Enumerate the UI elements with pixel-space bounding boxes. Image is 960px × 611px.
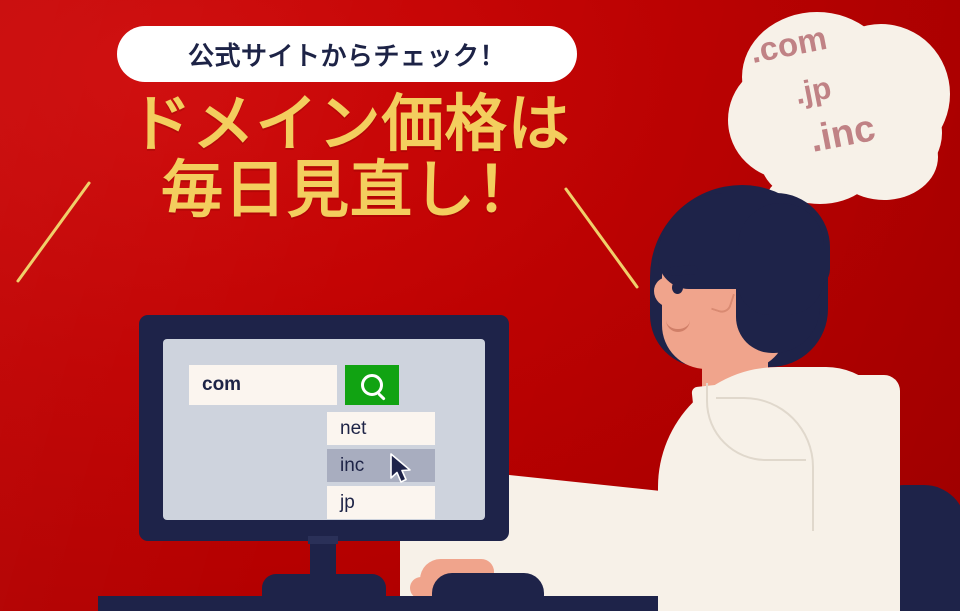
monitor-screen: onamae com net inc jp <box>163 339 485 520</box>
tld-dropdown-list[interactable]: net inc jp <box>327 412 435 523</box>
banner-pill: 公式サイトからチェック！ <box>117 26 577 82</box>
person-illustration <box>610 185 960 611</box>
search-icon <box>361 374 383 396</box>
banner-label: 公式サイトからチェック！ <box>188 36 506 73</box>
poster-canvas: 公式サイトからチェック！ ドメイン価格は 毎日見直し！ .com .jp .in… <box>0 0 960 611</box>
tld-label-jp: .jp <box>792 70 834 112</box>
tld-select[interactable]: com <box>189 365 297 405</box>
monitor-bezel: onamae com net inc jp <box>139 315 509 541</box>
dropdown-option-inc[interactable]: inc <box>327 449 435 482</box>
eye <box>672 281 683 294</box>
hair-bun <box>738 203 824 315</box>
headline-line-1: ドメイン価格は <box>90 92 610 158</box>
headline-line-2: 毎日見直し！ <box>90 158 610 224</box>
dropdown-option-net[interactable]: net <box>327 412 435 445</box>
domain-search-bar: onamae com <box>189 365 399 405</box>
monitor-logo-strip <box>308 536 338 544</box>
dropdown-option-jp[interactable]: jp <box>327 486 435 519</box>
page-title: ドメイン価格は 毎日見直し！ <box>90 92 610 223</box>
search-button[interactable] <box>345 365 399 405</box>
monitor-stand-base <box>262 574 386 602</box>
dropdown-option-label: inc <box>340 455 364 477</box>
